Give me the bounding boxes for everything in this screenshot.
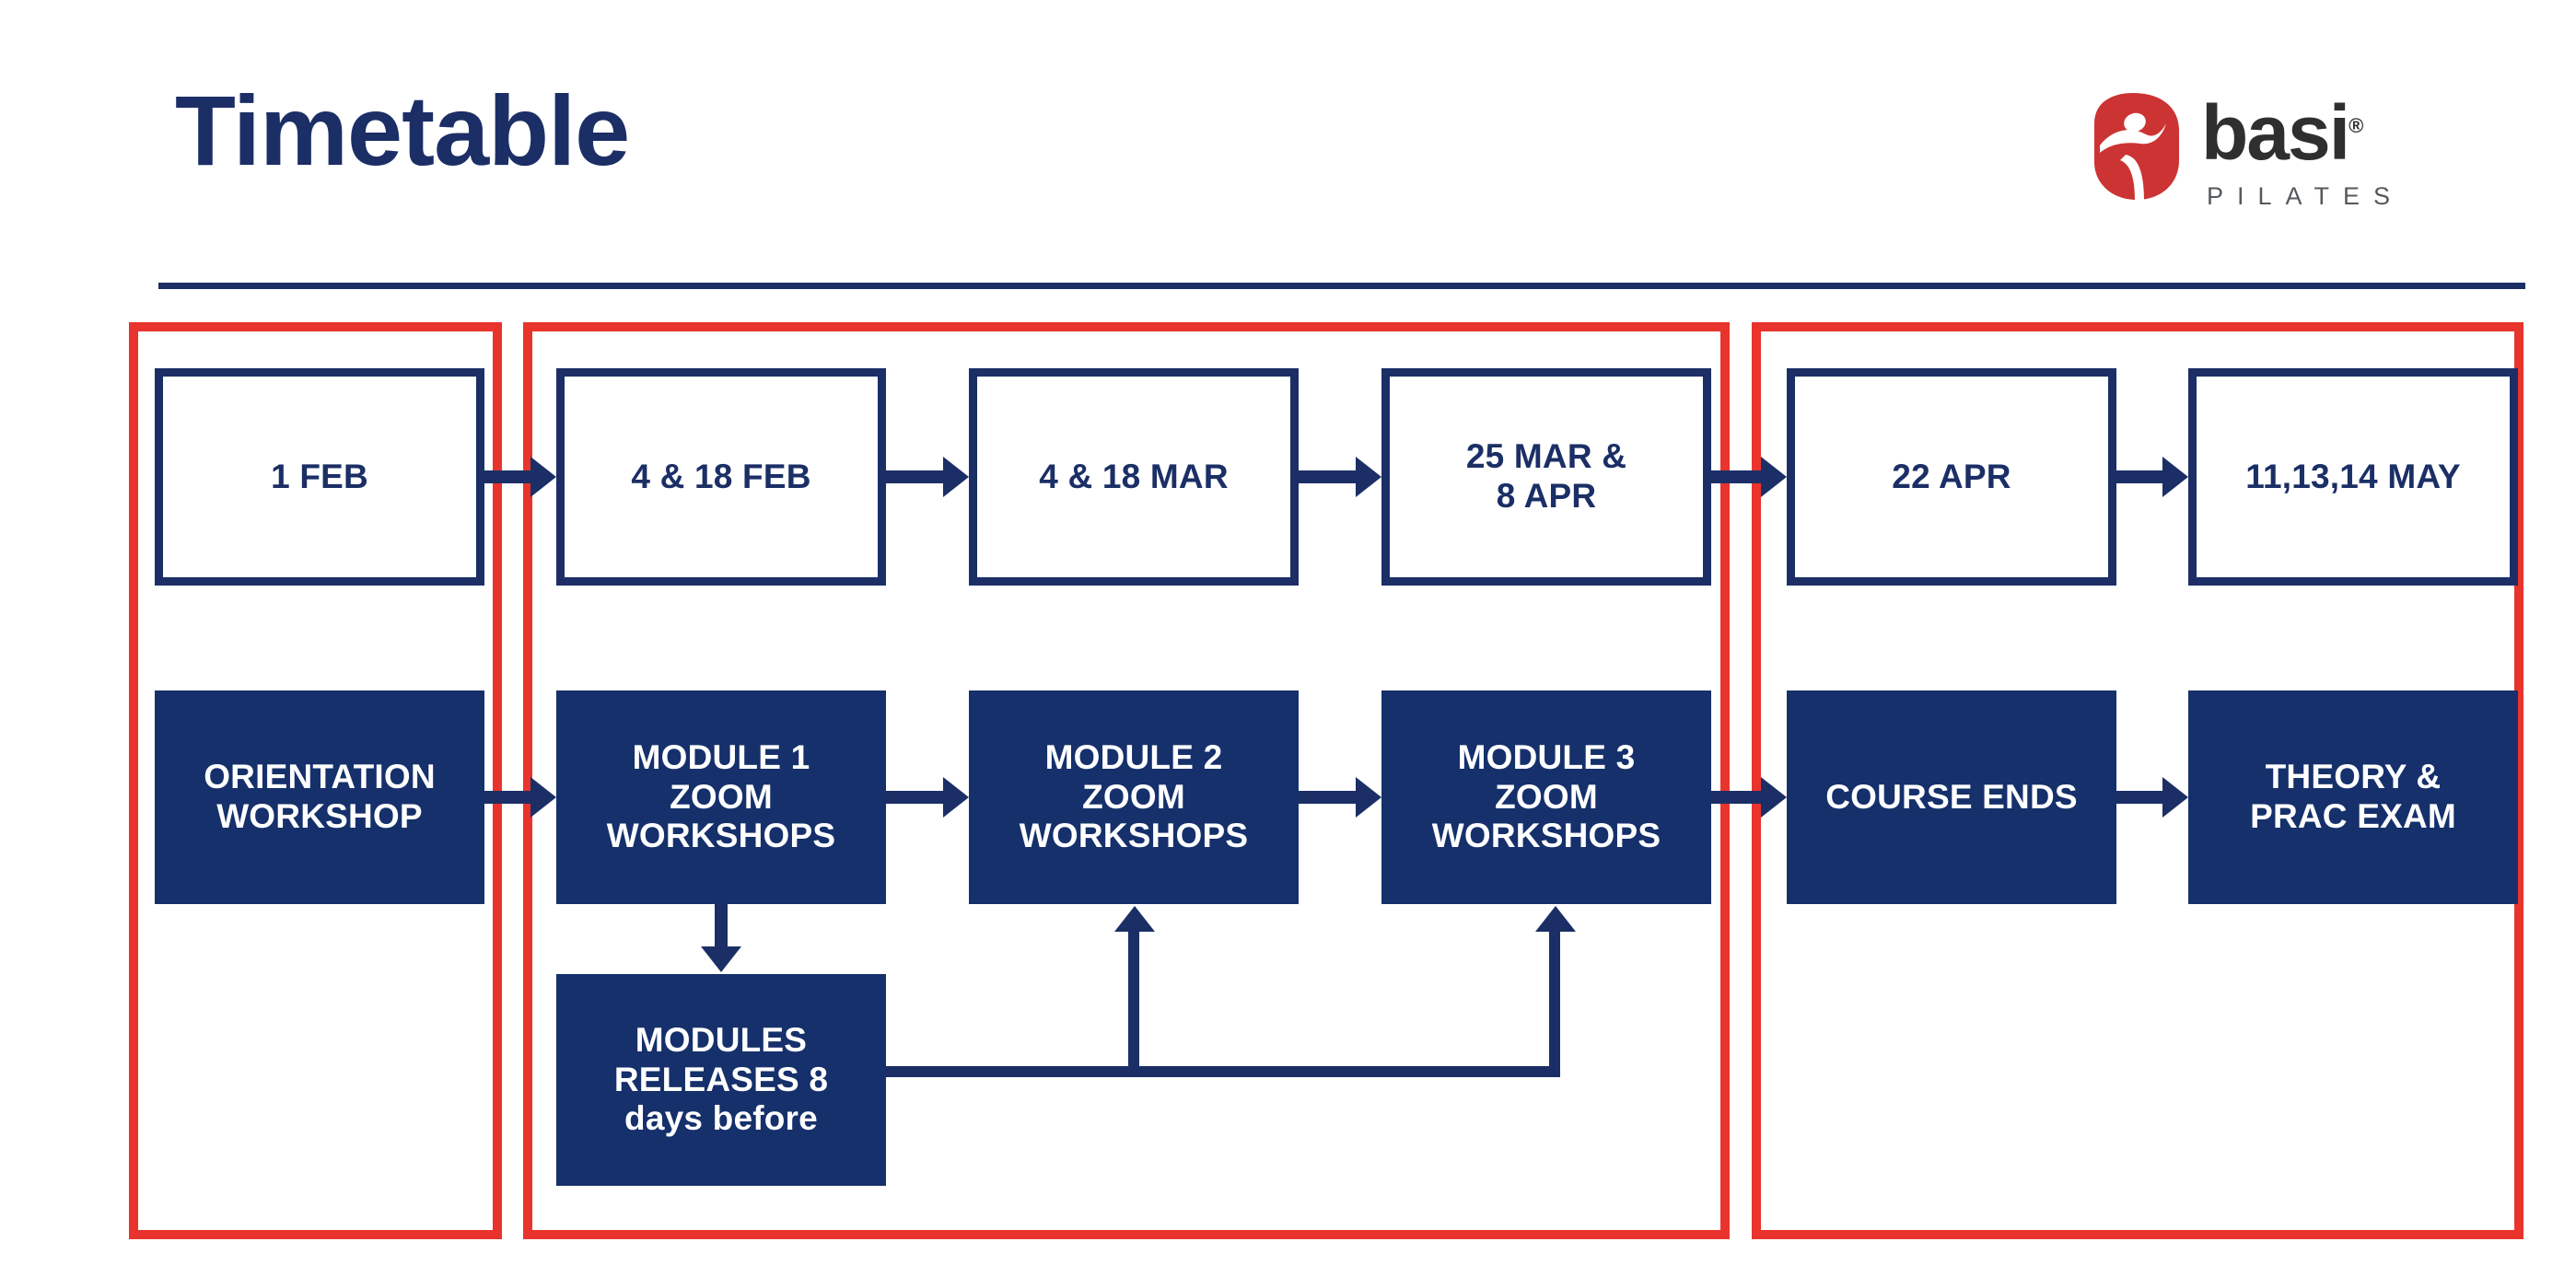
event-box-6-label: THEORY & PRAC EXAM <box>2250 758 2456 837</box>
connector-note-trunk-horizontal <box>886 1066 1560 1077</box>
slide-canvas: Timetable basi® PILATES 1 FEB 4 & 18 FEB… <box>0 0 2576 1288</box>
page-title: Timetable <box>175 81 629 180</box>
arrow-date-5-to-6 <box>2116 470 2164 483</box>
date-box-4[interactable]: 25 MAR & 8 APR <box>1381 368 1711 586</box>
arrow-event-1-to-2 <box>484 791 532 804</box>
arrow-event-2-to-3 <box>886 791 945 804</box>
note-box-label: MODULES RELEASES 8 days before <box>614 1021 828 1140</box>
event-box-module-3[interactable]: MODULE 3 ZOOM WORKSHOPS <box>1381 690 1711 904</box>
arrow-event-5-to-6 <box>2116 791 2164 804</box>
note-box-modules-release[interactable]: MODULES RELEASES 8 days before <box>556 974 886 1186</box>
arrow-date-4-to-5 <box>1711 470 1763 483</box>
arrow-date-3-to-4 <box>1299 470 1358 483</box>
date-box-3[interactable]: 4 & 18 MAR <box>969 368 1299 586</box>
date-box-2[interactable]: 4 & 18 FEB <box>556 368 886 586</box>
date-box-6-label: 11,13,14 MAY <box>2245 458 2461 497</box>
event-box-4-label: MODULE 3 ZOOM WORKSHOPS <box>1432 738 1661 857</box>
event-box-5-label: COURSE ENDS <box>1825 778 2078 818</box>
logo-tagline: PILATES <box>2207 182 2404 211</box>
event-box-module-1[interactable]: MODULE 1 ZOOM WORKSHOPS <box>556 690 886 904</box>
date-box-1-label: 1 FEB <box>271 458 368 497</box>
date-box-5-label: 22 APR <box>1892 458 2011 497</box>
basi-pilates-logo: basi® PILATES <box>2089 92 2441 210</box>
date-box-3-label: 4 & 18 MAR <box>1039 458 1229 497</box>
logo-wordmark-text: basi <box>2201 89 2349 176</box>
arrow-note-to-module2 <box>1128 930 1139 1073</box>
date-box-6[interactable]: 11,13,14 MAY <box>2188 368 2518 586</box>
event-box-course-ends[interactable]: COURSE ENDS <box>1787 690 2116 904</box>
arrow-note-to-module3 <box>1549 930 1560 1073</box>
registered-mark-icon: ® <box>2349 114 2363 137</box>
event-box-2-label: MODULE 1 ZOOM WORKSHOPS <box>607 738 835 857</box>
event-box-module-2[interactable]: MODULE 2 ZOOM WORKSHOPS <box>969 690 1299 904</box>
arrow-date-1-to-2 <box>484 470 532 483</box>
arrow-event-4-to-5 <box>1711 791 1763 804</box>
date-box-1[interactable]: 1 FEB <box>155 368 484 586</box>
arrow-module1-to-note <box>715 904 728 948</box>
event-box-orientation-workshop[interactable]: ORIENTATION WORKSHOP <box>155 690 484 904</box>
event-box-theory-prac-exam[interactable]: THEORY & PRAC EXAM <box>2188 690 2518 904</box>
date-box-2-label: 4 & 18 FEB <box>631 458 810 497</box>
title-divider <box>158 283 2525 289</box>
arrow-event-3-to-4 <box>1299 791 1358 804</box>
date-box-5[interactable]: 22 APR <box>1787 368 2116 586</box>
logo-wordmark: basi® <box>2201 94 2363 171</box>
event-box-1-label: ORIENTATION WORKSHOP <box>204 758 436 837</box>
date-box-4-label: 25 MAR & 8 APR <box>1466 437 1626 516</box>
basi-figure-icon <box>2089 92 2185 201</box>
arrow-date-2-to-3 <box>886 470 945 483</box>
event-box-3-label: MODULE 2 ZOOM WORKSHOPS <box>1020 738 1248 857</box>
